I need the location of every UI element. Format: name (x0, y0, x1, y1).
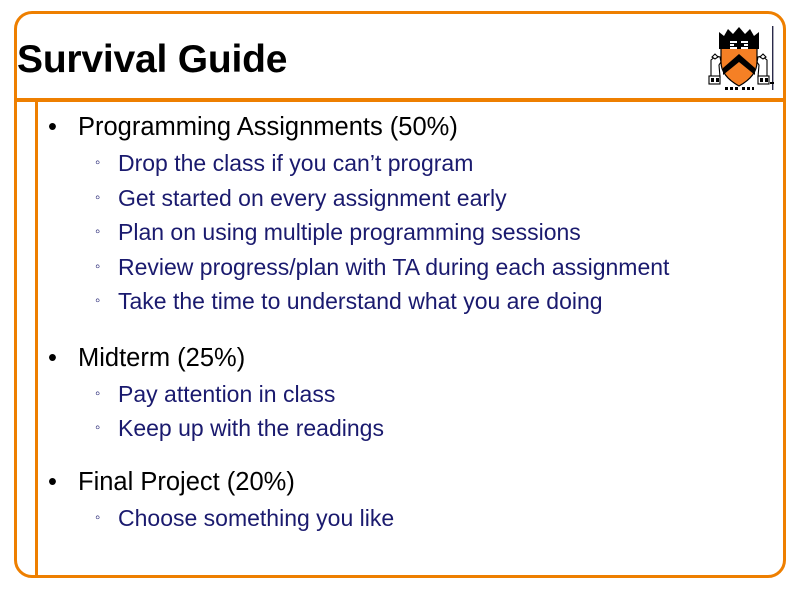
bullet-marker-level1: • (48, 108, 57, 146)
bullet-level2-label: Choose something you like (118, 505, 394, 531)
presentation-slide: Survival Guide (0, 0, 800, 600)
bullet-level2: ◦ Get started on every assignment early (40, 181, 780, 216)
princeton-shield-icon (703, 24, 775, 94)
bullet-level2-label: Drop the class if you can’t program (118, 150, 473, 176)
bullet-level1: • Final Project (20%) (40, 463, 780, 501)
bullet-level2-label: Take the time to understand what you are… (118, 288, 603, 314)
bullet-level2: ◦ Keep up with the readings (40, 411, 780, 446)
bullet-marker-level2: ◦ (95, 501, 100, 536)
bullet-marker-level1: • (48, 339, 57, 377)
page-title: Survival Guide (17, 38, 287, 82)
bullet-group: • Final Project (20%) ◦ Choose something… (40, 463, 780, 536)
bullet-level1-label: Programming Assignments (50%) (78, 113, 458, 141)
bullet-marker-level2: ◦ (95, 377, 100, 412)
slide-content: • Programming Assignments (50%) ◦ Drop t… (40, 108, 780, 570)
bullet-level2-label: Review progress/plan with TA during each… (118, 254, 669, 280)
bullet-level1: • Programming Assignments (50%) (40, 108, 780, 146)
body-left-rule (35, 101, 38, 578)
bullet-group: • Programming Assignments (50%) ◦ Drop t… (40, 108, 780, 319)
bullet-group: • Midterm (25%) ◦ Pay attention in class… (40, 339, 780, 446)
bullet-level2-label: Plan on using multiple programming sessi… (118, 219, 581, 245)
bullet-level2-label: Get started on every assignment early (118, 185, 507, 211)
bullet-marker-level2: ◦ (95, 284, 100, 319)
bullet-level2: ◦ Drop the class if you can’t program (40, 146, 780, 181)
bullet-level2: ◦ Take the time to understand what you a… (40, 284, 780, 319)
group-spacer (40, 446, 780, 463)
bullet-marker-level2: ◦ (95, 215, 100, 250)
bullet-level1-label: Midterm (25%) (78, 344, 245, 372)
bullet-level2: ◦ Plan on using multiple programming ses… (40, 215, 780, 250)
group-spacer (40, 319, 780, 339)
bullet-level1: • Midterm (25%) (40, 339, 780, 377)
bullet-level2-label: Keep up with the readings (118, 415, 384, 441)
bullet-marker-level2: ◦ (95, 181, 100, 216)
bullet-level2-label: Pay attention in class (118, 381, 335, 407)
bullet-level2: ◦ Review progress/plan with TA during ea… (40, 250, 780, 285)
bullet-marker-level1: • (48, 463, 57, 501)
header-divider (14, 98, 786, 102)
bullet-level1-label: Final Project (20%) (78, 468, 295, 496)
bullet-marker-level2: ◦ (95, 146, 100, 181)
bullet-marker-level2: ◦ (95, 250, 100, 285)
bullet-level2: ◦ Choose something you like (40, 501, 780, 536)
bullet-marker-level2: ◦ (95, 411, 100, 446)
bullet-level2: ◦ Pay attention in class (40, 377, 780, 412)
